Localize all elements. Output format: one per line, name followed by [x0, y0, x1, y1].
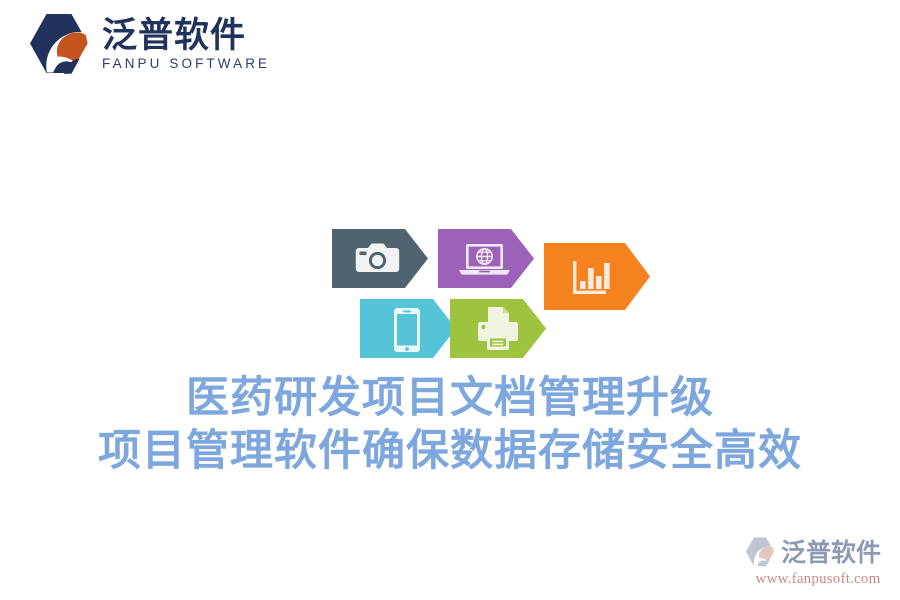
watermark-logo-row: 泛普软件 [744, 534, 892, 570]
chevron-smartphone [360, 299, 456, 358]
chevron-camera [332, 229, 428, 288]
watermark-brand-name: 泛普软件 [781, 540, 881, 565]
chevron-icon-cluster [325, 220, 655, 360]
headline-line-2: 项目管理软件确保数据存储安全高效 [0, 425, 900, 478]
smartphone-icon [394, 308, 420, 352]
fanpu-hexagon-logo-icon [26, 12, 92, 76]
chevron-bar-chart [544, 243, 650, 310]
brand-header: 泛普软件 FANPU SOFTWARE [26, 12, 270, 76]
laptop-globe-icon [459, 244, 510, 275]
watermark: 泛普软件 www.fanpusoft.com [744, 534, 892, 592]
brand-name-en: FANPU SOFTWARE [102, 57, 270, 72]
chevron-laptop-globe [438, 229, 534, 288]
brand-text-block: 泛普软件 FANPU SOFTWARE [102, 16, 270, 73]
banner-page: 泛普软件 FANPU SOFTWARE [0, 0, 900, 600]
brand-name-cn: 泛普软件 [102, 18, 270, 55]
headline-line-1: 医药研发项目文档管理升级 [0, 372, 900, 425]
chevron-printer [450, 299, 546, 358]
watermark-url: www.fanpusoft.com [744, 571, 892, 588]
fanpu-hexagon-logo-icon [744, 536, 776, 568]
headline-block: 医药研发项目文档管理升级 项目管理软件确保数据存储安全高效 [0, 372, 900, 478]
